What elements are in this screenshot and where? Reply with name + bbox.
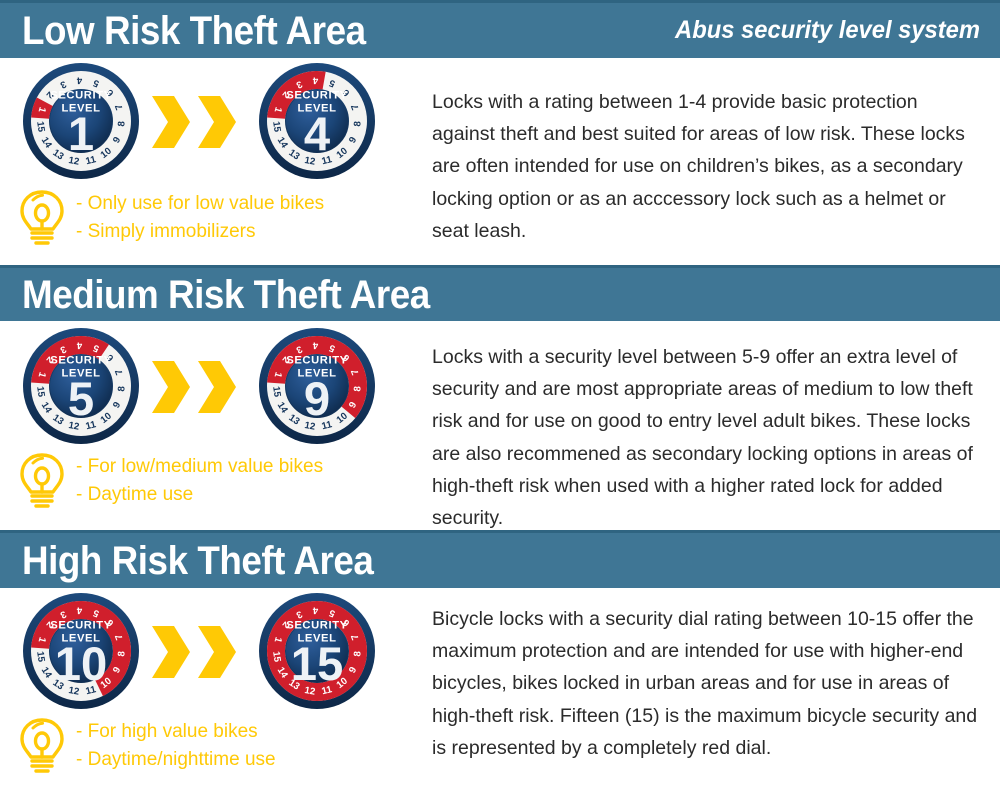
svg-text:4: 4 [312, 74, 318, 85]
tip-item: - Daytime/nighttime use [76, 746, 276, 774]
svg-text:4: 4 [312, 339, 318, 350]
lightbulb-icon [16, 451, 68, 511]
svg-text:SECURITY: SECURITY [50, 90, 111, 102]
svg-text:15: 15 [34, 651, 46, 664]
svg-text:15: 15 [270, 651, 282, 664]
svg-text:SECURITY: SECURITY [286, 90, 347, 102]
section-header-low-risk: Low Risk Theft AreaAbus security level s… [0, 0, 1000, 58]
page-subtitle: Abus security level system [675, 16, 980, 45]
svg-text:SECURITY: SECURITY [286, 355, 347, 367]
lightbulb-icon [16, 188, 68, 248]
tip-item: - Daytime use [76, 481, 323, 509]
security-level-badge-10: 123456789101112131415SECURITYLEVEL10 [22, 592, 140, 710]
svg-text:1: 1 [68, 108, 94, 161]
lightbulb-icon [16, 716, 68, 776]
svg-text:10: 10 [55, 638, 108, 691]
svg-text:SECURITY: SECURITY [50, 620, 111, 632]
svg-text:15: 15 [291, 638, 344, 691]
tip-list: - For high value bikes- Daytime/nighttim… [76, 718, 276, 773]
security-level-badge-15: 123456789101112131415SECURITYLEVEL15 [258, 592, 376, 710]
svg-text:9: 9 [304, 373, 330, 426]
tips-block: - For low/medium value bikes- Daytime us… [16, 451, 323, 511]
svg-text:4: 4 [76, 74, 82, 85]
tips-block: - For high value bikes- Daytime/nighttim… [16, 716, 276, 776]
svg-text:15: 15 [34, 121, 46, 134]
progression-arrows-icon [152, 96, 244, 153]
tip-item: - For high value bikes [76, 718, 276, 746]
tip-item: - For low/medium value bikes [76, 453, 323, 481]
section-title: Low Risk Theft Area [22, 11, 366, 51]
progression-arrows-icon [152, 626, 244, 683]
badge-row: 123456789101112131415SECURITYLEVEL10 123… [0, 592, 420, 714]
svg-text:SECURITY: SECURITY [286, 620, 347, 632]
tip-list: - Only use for low value bikes- Simply i… [76, 190, 324, 245]
section-header-medium-risk: Medium Risk Theft Area [0, 265, 1000, 321]
security-level-badge-5: 123456789101112131415SECURITYLEVEL5 [22, 327, 140, 445]
tip-item: - Only use for low value bikes [76, 190, 324, 218]
section-header-high-risk: High Risk Theft Area [0, 530, 1000, 588]
svg-text:15: 15 [270, 121, 282, 134]
security-level-badge-4: 123456789101112131415SECURITYLEVEL4 [258, 62, 376, 180]
svg-text:5: 5 [68, 373, 94, 426]
svg-text:15: 15 [34, 386, 46, 399]
progression-arrows-icon [152, 361, 244, 418]
tip-list: - For low/medium value bikes- Daytime us… [76, 453, 323, 508]
tip-item: - Simply immobilizers [76, 218, 324, 246]
tips-block: - Only use for low value bikes- Simply i… [16, 188, 324, 248]
badge-row: 123456789101112131415SECURITYLEVEL1 1234… [0, 62, 420, 184]
svg-text:SECURITY: SECURITY [50, 355, 111, 367]
badge-column: 123456789101112131415SECURITYLEVEL5 1234… [0, 327, 420, 449]
section-title: High Risk Theft Area [22, 541, 373, 581]
badge-row: 123456789101112131415SECURITYLEVEL5 1234… [0, 327, 420, 449]
security-level-badge-1: 123456789101112131415SECURITYLEVEL1 [22, 62, 140, 180]
infographic-page: Low Risk Theft AreaAbus security level s… [0, 0, 1000, 800]
section-description: Locks with a security level between 5-9 … [432, 341, 984, 534]
security-level-badge-9: 123456789101112131415SECURITYLEVEL9 [258, 327, 376, 445]
svg-text:15: 15 [270, 386, 282, 399]
section-description: Bicycle locks with a security dial ratin… [432, 603, 984, 764]
badge-column: 123456789101112131415SECURITYLEVEL1 1234… [0, 62, 420, 184]
section-title: Medium Risk Theft Area [22, 275, 430, 315]
svg-text:4: 4 [76, 604, 82, 615]
svg-text:4: 4 [76, 339, 82, 350]
svg-text:4: 4 [312, 604, 318, 615]
svg-text:4: 4 [304, 108, 330, 161]
badge-column: 123456789101112131415SECURITYLEVEL10 123… [0, 592, 420, 714]
section-description: Locks with a rating between 1-4 provide … [432, 86, 984, 247]
